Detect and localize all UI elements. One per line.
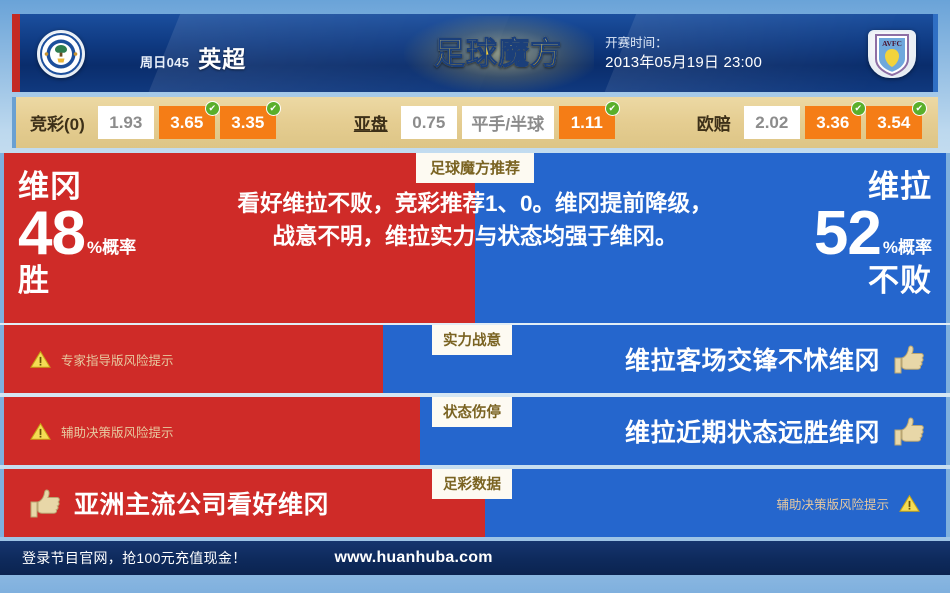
- odds-cell[interactable]: 3.35 ✔: [220, 106, 276, 139]
- odds-cell[interactable]: 0.75: [401, 106, 457, 139]
- row-category-chip: 足彩数据: [432, 469, 512, 499]
- row-risk-text: 专家指导版风险提示: [61, 350, 174, 369]
- check-badge-icon: ✔: [266, 101, 281, 116]
- row-verdict-text: 亚洲主流公司看好维冈: [74, 485, 329, 521]
- warning-icon: [30, 350, 51, 369]
- header-blue-accent: [933, 14, 938, 92]
- recommendation-chip: 足球魔方推荐: [416, 153, 534, 183]
- odds-group-label: 欧赔: [697, 110, 731, 135]
- comparison-row: 专家指导版风险提示 维拉客场交锋不怵维冈 实力战意: [0, 325, 950, 393]
- odds-cell-value: 1.11: [571, 113, 603, 133]
- row-right-accent: [946, 397, 950, 465]
- comparison-row: 辅助决策版风险提示 维拉近期状态远胜维冈 状态伤停: [0, 397, 950, 465]
- header-red-accent: [12, 14, 20, 92]
- thumbs-up-icon: [28, 488, 62, 519]
- odds-cell[interactable]: 3.36 ✔: [805, 106, 861, 139]
- row-category-chip: 实力战意: [432, 325, 512, 355]
- thumbs-up-icon: [892, 416, 926, 447]
- row-verdict-text: 维拉近期状态远胜维冈: [625, 413, 880, 449]
- row-risk-text: 辅助决策版风险提示: [776, 494, 889, 513]
- brand-logo-text: 足球魔方: [418, 28, 578, 80]
- row-right-accent: [946, 469, 950, 537]
- row-verdict-text: 维拉客场交锋不怵维冈: [625, 341, 880, 377]
- row-right-accent: [946, 325, 950, 393]
- away-probability-value: 52: [814, 205, 881, 263]
- away-team-crest-icon: AVFC: [868, 30, 916, 78]
- odds-left-accent: [12, 97, 16, 148]
- footer-bar: 登录节目官网，抢100元充值现金！ www.huanhuba.com: [0, 541, 950, 575]
- row-verdict: 维拉近期状态远胜维冈: [625, 397, 926, 465]
- footer-promo-text: 登录节目官网，抢100元充值现金！: [22, 548, 246, 568]
- odds-cell-value: 3.36: [816, 113, 849, 133]
- match-identifier: 周日045 英超: [140, 40, 246, 74]
- comparison-rows: 专家指导版风险提示 维拉客场交锋不怵维冈 实力战意: [0, 325, 950, 541]
- check-badge-icon: ✔: [205, 101, 220, 116]
- kickoff-time: 开赛时间： 2013年05月19日 23:00: [605, 34, 762, 74]
- odds-group-jingcai: 竞彩(0) 1.93 3.65 ✔ 3.35 ✔: [30, 106, 276, 139]
- warning-icon: [899, 494, 920, 513]
- odds-group-asian-handicap: 亚盘 0.75 平手/半球 1.11 ✔: [354, 106, 615, 139]
- home-outcome-label: 胜: [18, 263, 136, 299]
- recommendation-text: 看好维拉不败，竞彩推荐1、0。维冈提前降级，战意不明，维拉实力与状态均强于维冈。: [236, 187, 714, 253]
- row-category-chip: 状态伤停: [432, 397, 512, 427]
- home-probability-block: 维冈 48 %概率 胜: [18, 169, 136, 299]
- check-badge-icon: ✔: [605, 101, 620, 116]
- odds-cell[interactable]: 2.02: [744, 106, 800, 139]
- kickoff-value: 2013年05月19日 23:00: [605, 52, 762, 74]
- home-probability-value: 48: [18, 205, 85, 263]
- kickoff-label: 开赛时间：: [605, 34, 762, 52]
- row-risk-note: 专家指导版风险提示: [30, 325, 174, 393]
- odds-group-european: 欧赔 2.02 3.36 ✔ 3.54 ✔: [697, 106, 922, 139]
- match-header: 周日045 英超 足球魔方 开赛时间： 2013年05月19日 23:00 AV…: [12, 14, 938, 92]
- odds-cell[interactable]: 1.93: [98, 106, 154, 139]
- away-probability-suffix: %概率: [883, 239, 932, 256]
- away-outcome-label: 不败: [814, 263, 932, 299]
- odds-group-label: 竞彩(0): [30, 110, 85, 135]
- row-risk-note: 辅助决策版风险提示: [776, 469, 920, 537]
- odds-bar: 竞彩(0) 1.93 3.65 ✔ 3.35 ✔ 亚盘 0.75 平手/半球 1…: [12, 97, 938, 148]
- row-verdict: 亚洲主流公司看好维冈: [28, 469, 329, 537]
- odds-cell-value: 3.65: [170, 113, 203, 133]
- odds-cell-value: 3.54: [877, 113, 910, 133]
- check-badge-icon: ✔: [912, 101, 927, 116]
- footer-website-url[interactable]: www.huanhuba.com: [334, 549, 492, 567]
- infographic-stage: 周日045 英超 足球魔方 开赛时间： 2013年05月19日 23:00 AV…: [0, 0, 950, 593]
- home-team-crest-icon: [37, 30, 85, 78]
- match-number: 周日045: [140, 52, 189, 71]
- odds-cell[interactable]: 3.54 ✔: [866, 106, 922, 139]
- row-verdict: 维拉客场交锋不怵维冈: [625, 325, 926, 393]
- away-probability-block: 维拉 52 %概率 不败: [814, 169, 932, 299]
- odds-cell-value: 3.35: [231, 113, 264, 133]
- panel-left-accent: [0, 153, 4, 323]
- odds-cell[interactable]: 3.65 ✔: [159, 106, 215, 139]
- panel-right-accent: [946, 153, 950, 323]
- probability-panel: 维冈 48 %概率 胜 维拉 52 %概率 不败 足球魔方推荐 看好维拉不败，竞…: [0, 153, 950, 323]
- row-risk-note: 辅助决策版风险提示: [30, 397, 174, 465]
- svg-text:AVFC: AVFC: [882, 39, 902, 48]
- league-name: 英超: [198, 40, 246, 74]
- home-probability-suffix: %概率: [87, 239, 136, 256]
- odds-group-label: 亚盘: [354, 110, 388, 135]
- row-risk-text: 辅助决策版风险提示: [61, 422, 174, 441]
- comparison-row: 亚洲主流公司看好维冈 辅助决策版风险提示 足彩数据: [0, 469, 950, 537]
- odds-cell[interactable]: 1.11 ✔: [559, 106, 615, 139]
- thumbs-up-icon: [892, 344, 926, 375]
- check-badge-icon: ✔: [851, 101, 866, 116]
- brand-logo: 足球魔方: [418, 28, 578, 80]
- warning-icon: [30, 422, 51, 441]
- odds-cell-handicap[interactable]: 平手/半球: [462, 106, 554, 139]
